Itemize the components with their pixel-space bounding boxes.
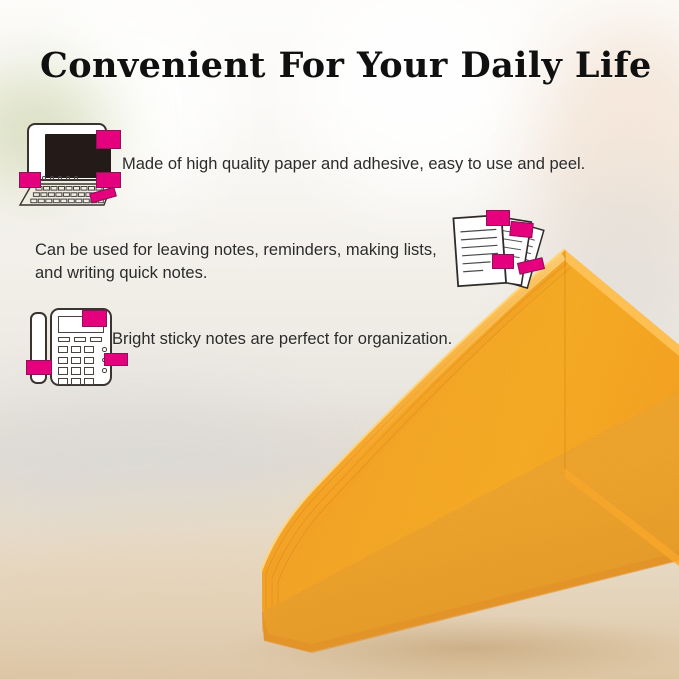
sticky-note-tab-icon (96, 172, 121, 188)
laptop-indicator-dots (42, 176, 94, 182)
telephone-keypad (58, 346, 98, 385)
sticky-note-tab-icon (82, 310, 107, 327)
sticky-note-tab-icon (104, 353, 128, 366)
product-feature-poster: Convenient For Your Daily Life (0, 0, 679, 679)
sticky-note-tab-icon (509, 221, 533, 238)
sticky-note-tab-icon (96, 130, 121, 149)
laptop-icon (18, 120, 130, 208)
feature-text-organization: Bright sticky notes are perfect for orga… (112, 328, 452, 351)
background-grey-band (0, 400, 300, 530)
sticky-note-tab-icon (26, 360, 52, 375)
sticky-note-tab-icon (492, 254, 514, 269)
sticky-note-tab-icon (19, 172, 41, 188)
sticky-note-tab-icon (486, 210, 510, 226)
telephone-function-keys (58, 337, 104, 342)
background-bottom-shadow (0, 529, 679, 679)
feature-text-use-cases: Can be used for leaving notes, reminders… (35, 239, 455, 285)
feature-text-paper-quality: Made of high quality paper and adhesive,… (122, 153, 585, 176)
documents-icon (448, 206, 560, 302)
page-title: Convenient For Your Daily Life (40, 45, 652, 86)
